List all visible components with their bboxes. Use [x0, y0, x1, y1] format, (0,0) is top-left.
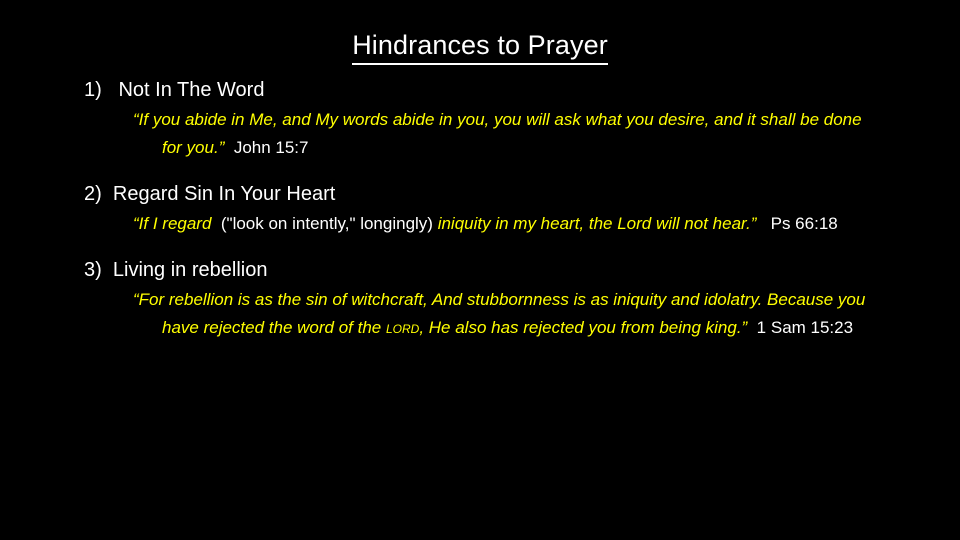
- slide-title: Hindrances to Prayer: [0, 29, 960, 61]
- point-1-scripture: “If you abide in Me, and My words abide …: [84, 106, 884, 162]
- point-2-scripture: “If I regard ("look on intently," longin…: [84, 210, 884, 238]
- point-2-reference: Ps 66:18: [771, 214, 838, 233]
- point-2-number: 2): [84, 183, 102, 205]
- list-item: 3) Living in rebellion “For rebellion is…: [84, 257, 884, 342]
- point-2-heading-text: Regard Sin In Your Heart: [113, 183, 335, 205]
- slide-canvas: Hindrances to Prayer 1) Not In The Word …: [0, 0, 960, 540]
- point-2-heading: 2) Regard Sin In Your Heart: [84, 181, 884, 207]
- slide-title-text: Hindrances to Prayer: [352, 30, 608, 65]
- point-2-parenthetical: ("look on intently," longingly): [221, 214, 433, 233]
- point-2-quote-part2: iniquity in my heart, the Lord will not …: [438, 214, 757, 233]
- point-3-quote-part2: , He also has rejected you from being ki…: [419, 318, 747, 337]
- point-3-heading: 3) Living in rebellion: [84, 257, 884, 283]
- point-1-reference: John 15:7: [234, 138, 309, 157]
- point-3-reference: 1 Sam 15:23: [757, 318, 853, 337]
- list-item: 2) Regard Sin In Your Heart “If I regard…: [84, 181, 884, 238]
- point-1-heading: 1) Not In The Word: [84, 77, 884, 103]
- slide-body: 1) Not In The Word “If you abide in Me, …: [84, 77, 884, 342]
- point-3-heading-text: Living in rebellion: [113, 259, 268, 281]
- point-3-number: 3): [84, 259, 102, 281]
- point-3-scripture: “For rebellion is as the sin of witchcra…: [84, 286, 884, 342]
- list-item: 1) Not In The Word “If you abide in Me, …: [84, 77, 884, 162]
- point-1-number: 1): [84, 79, 102, 101]
- point-3-lord-smallcaps: LORD: [386, 318, 419, 337]
- point-1-heading-text: Not In The Word: [118, 79, 264, 101]
- point-2-quote-part1: “If I regard: [133, 214, 211, 233]
